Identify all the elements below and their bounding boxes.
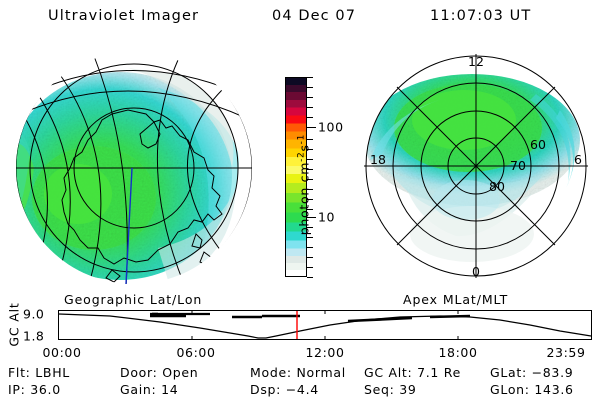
status-seq: Seq: 39: [364, 382, 417, 397]
mlat-mlt-grid: [364, 54, 588, 278]
geographic-aurora-image: [8, 48, 256, 288]
status-dsp: Dsp: −4.4: [250, 382, 319, 397]
status-glat: GLat: −83.9: [490, 365, 573, 380]
time-tick-0000: 00:00: [42, 345, 81, 360]
colorbar-axis-title-mid: s: [297, 144, 312, 151]
instrument-title: Ultraviolet Imager: [48, 8, 199, 24]
colorbar-group: 100 10 photon cm-2s-1: [256, 60, 356, 290]
status-block: Flt: LBHL Door: Open Mode: Normal GC Alt…: [0, 365, 600, 399]
apex-image-panel[interactable]: 12 18 6 0 60 70 80: [360, 48, 592, 288]
header-bar: Ultraviolet Imager 04 Dec 07 11:07:03 UT: [0, 8, 600, 32]
colorbar-axis-exp-2: -1: [296, 134, 306, 144]
colorbar-label-10: 10: [318, 210, 335, 225]
status-gain: Gain: 14: [120, 382, 178, 397]
colorbar-axis-title: photon cm-2s-1: [296, 95, 311, 275]
time-tick-1200: 12:00: [305, 345, 344, 360]
colorbar-axis-title-main: photon cm: [297, 162, 312, 235]
time-tick-1800: 18:00: [438, 345, 477, 360]
mlt-label-0: 0: [472, 264, 480, 279]
observation-date: 04 Dec 07: [272, 8, 356, 24]
status-door: Door: Open: [120, 365, 198, 380]
colorbar-label-100: 100: [318, 120, 344, 135]
status-filter: Flt: LBHL: [8, 365, 70, 380]
apex-aurora-image: 12 18 6 0 60 70 80: [360, 48, 592, 288]
mlt-label-18: 18: [370, 152, 386, 167]
geographic-image-panel[interactable]: [8, 48, 256, 288]
mlat-label-70: 70: [510, 158, 526, 173]
status-ip: IP: 36.0: [8, 382, 61, 397]
mlt-label-12: 12: [468, 54, 484, 69]
mlat-label-80: 80: [489, 179, 505, 194]
status-gc-alt: GC Alt: 7.1 Re: [364, 365, 461, 380]
time-axis: 00:00 06:00 12:00 18:00 23:59: [0, 345, 600, 361]
time-tick-0600: 06:00: [176, 345, 215, 360]
strip-chart-curve: [0, 305, 600, 345]
status-glon: GLon: 143.6: [490, 382, 574, 397]
mlat-label-60: 60: [530, 137, 546, 152]
observation-time: 11:07:03 UT: [430, 8, 531, 24]
mlt-label-6: 6: [574, 152, 582, 167]
time-tick-2359: 23:59: [546, 345, 585, 360]
status-mode: Mode: Normal: [250, 365, 346, 380]
colorbar-axis-exp-1: -2: [296, 152, 306, 162]
gc-altitude-strip-chart[interactable]: GC Alt 9.0 1.8: [0, 305, 600, 345]
